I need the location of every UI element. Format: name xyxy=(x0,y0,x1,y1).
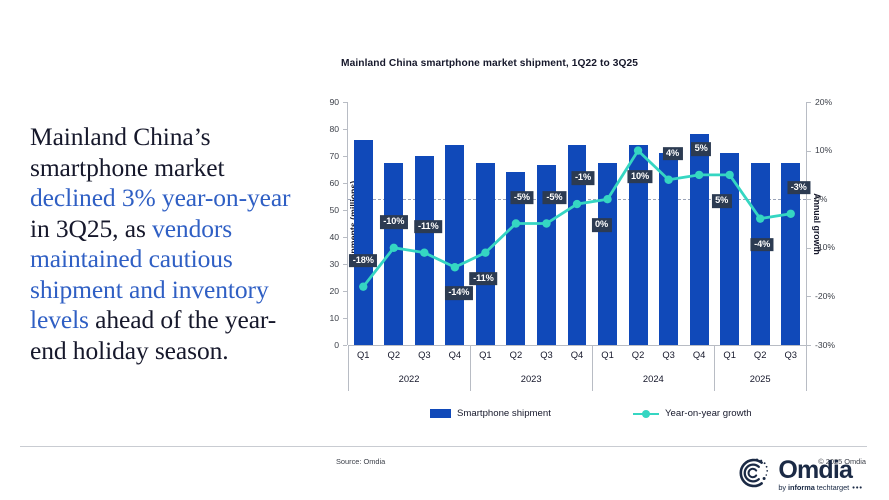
quarter-label: Q3 xyxy=(540,349,553,360)
group-separator xyxy=(592,345,593,391)
growth-value-label: -10% xyxy=(380,215,408,229)
quarter-label: Q1 xyxy=(601,349,614,360)
growth-value-label: -18% xyxy=(349,254,377,268)
y-tick-label-left: 0 xyxy=(334,341,339,350)
quarter-label: Q2 xyxy=(388,349,401,360)
growth-data-point xyxy=(481,248,489,256)
y-tick-label-right: 10% xyxy=(815,146,832,155)
y-tick-left xyxy=(343,264,347,265)
y-tick-left xyxy=(343,291,347,292)
group-separator xyxy=(714,345,715,391)
quarter-label: Q3 xyxy=(418,349,431,360)
category-axis-rule xyxy=(348,345,806,346)
y-tick-label-left: 10 xyxy=(329,314,339,323)
quarter-label: Q3 xyxy=(662,349,675,360)
quarter-label: Q4 xyxy=(693,349,706,360)
y-tick-right xyxy=(807,296,811,297)
growth-value-label: 4% xyxy=(663,147,683,161)
quarter-label: Q1 xyxy=(357,349,370,360)
y-tick-right xyxy=(807,345,811,346)
headline-segment-0: Mainland China’s smartphone market xyxy=(30,122,224,182)
y-tick-left xyxy=(343,318,347,319)
chart-legend: Smartphone shipmentYear-on-year growth xyxy=(348,408,806,424)
growth-value-label: 5% xyxy=(712,194,732,208)
quarter-label: Q2 xyxy=(510,349,523,360)
omdia-logo: Omdia by informa techtarget ••• xyxy=(735,455,863,496)
quarter-label: Q4 xyxy=(571,349,584,360)
growth-data-point xyxy=(664,176,672,184)
growth-data-point xyxy=(603,195,611,203)
tagline-informa: informa xyxy=(788,483,815,492)
group-separator xyxy=(470,345,471,391)
y-tick-label-left: 50 xyxy=(329,206,339,215)
headline-segment-2: in 3Q25, as xyxy=(30,214,152,243)
growth-data-point xyxy=(512,219,520,227)
omdia-logo-text: Omdia by informa techtarget ••• xyxy=(778,459,863,493)
y-tick-left xyxy=(343,210,347,211)
legend-item: Year-on-year growth xyxy=(633,408,752,419)
y-tick-label-right: 20% xyxy=(815,98,832,107)
year-label: 2024 xyxy=(643,373,664,384)
year-label: 2025 xyxy=(750,373,771,384)
y-tick-label-right: -30% xyxy=(815,341,835,350)
plot-inner: 0102030405060708090-30%-20%-10%0%10%20%-… xyxy=(348,102,806,345)
growth-data-point xyxy=(787,210,795,218)
legend-label: Year-on-year growth xyxy=(665,408,752,419)
y-tick-label-left: 20 xyxy=(329,287,339,296)
legend-bar-swatch xyxy=(430,409,451,418)
growth-value-label: 5% xyxy=(691,142,711,156)
y-tick-left xyxy=(343,156,347,157)
growth-value-label: -5% xyxy=(510,191,533,205)
y-tick-label-left: 80 xyxy=(329,125,339,134)
growth-value-label: -5% xyxy=(543,191,566,205)
y-tick-label-right: 0% xyxy=(815,195,827,204)
growth-value-label: -11% xyxy=(415,220,443,234)
y-tick-label-left: 90 xyxy=(329,98,339,107)
growth-value-label: 10% xyxy=(628,170,653,184)
growth-data-point xyxy=(634,146,642,154)
y-tick-left xyxy=(343,129,347,130)
group-separator xyxy=(806,345,807,391)
y-axis-right-line xyxy=(806,102,807,345)
growth-data-point xyxy=(756,214,764,222)
growth-value-label: -14% xyxy=(445,286,473,300)
growth-data-point xyxy=(695,171,703,179)
growth-data-point xyxy=(451,263,459,271)
legend-line-swatch xyxy=(633,409,659,419)
growth-value-label: -4% xyxy=(751,238,774,252)
y-tick-left xyxy=(343,102,347,103)
quarter-label: Q3 xyxy=(784,349,797,360)
quarter-label: Q2 xyxy=(754,349,767,360)
source-note: Source: Omdia xyxy=(336,457,385,466)
tagline-techtarget: techtarget xyxy=(815,483,849,492)
y-tick-label-left: 40 xyxy=(329,233,339,242)
year-label: 2023 xyxy=(521,373,542,384)
growth-data-point xyxy=(725,171,733,179)
y-tick-right xyxy=(807,151,811,152)
omdia-tagline: by informa techtarget ••• xyxy=(778,483,863,492)
tagline-by: by xyxy=(778,483,788,492)
growth-value-label: -11% xyxy=(470,272,498,286)
headline-segment-1: declined 3% year-on-year xyxy=(30,183,290,212)
y-tick-label-right: -10% xyxy=(815,243,835,252)
legend-item: Smartphone shipment xyxy=(430,408,551,419)
growth-value-label: -1% xyxy=(571,171,594,185)
footer-divider xyxy=(20,446,867,447)
legend-label: Smartphone shipment xyxy=(457,408,551,419)
quarter-label: Q4 xyxy=(449,349,462,360)
category-axis: Q1Q2Q3Q42022Q1Q2Q3Q42023Q1Q2Q3Q42024Q1Q2… xyxy=(348,345,806,403)
y-tick-label-left: 60 xyxy=(329,179,339,188)
omdia-wordmark: Omdia xyxy=(778,459,863,483)
group-separator xyxy=(348,345,349,391)
growth-data-point xyxy=(359,282,367,290)
quarter-label: Q1 xyxy=(723,349,736,360)
quarter-label: Q2 xyxy=(632,349,645,360)
y-tick-label-left: 30 xyxy=(329,260,339,269)
growth-data-point xyxy=(390,244,398,252)
chart-title: Mainland China smartphone market shipmen… xyxy=(341,58,638,69)
year-label: 2022 xyxy=(399,373,420,384)
growth-value-label: -3% xyxy=(787,181,810,195)
y-tick-label-left: 70 xyxy=(329,152,339,161)
tagline-dots-icon: ••• xyxy=(849,483,863,492)
growth-value-label: 0% xyxy=(591,218,611,232)
y-tick-right xyxy=(807,102,811,103)
y-tick-left xyxy=(343,345,347,346)
y-tick-left xyxy=(343,237,347,238)
headline-statement: Mainland China’s smartphone market decli… xyxy=(30,122,292,366)
omdia-spiral-icon xyxy=(735,455,771,496)
growth-data-point xyxy=(420,248,428,256)
y-tick-left xyxy=(343,183,347,184)
y-tick-right xyxy=(807,248,811,249)
growth-data-point xyxy=(573,200,581,208)
y-tick-label-right: -20% xyxy=(815,292,835,301)
y-tick-right xyxy=(807,199,811,200)
quarter-label: Q1 xyxy=(479,349,492,360)
plot-area: Shipments (millions) Annual growth 01020… xyxy=(348,102,806,345)
growth-data-point xyxy=(542,219,550,227)
chart-card: Mainland China smartphone market shipmen… xyxy=(296,40,876,432)
